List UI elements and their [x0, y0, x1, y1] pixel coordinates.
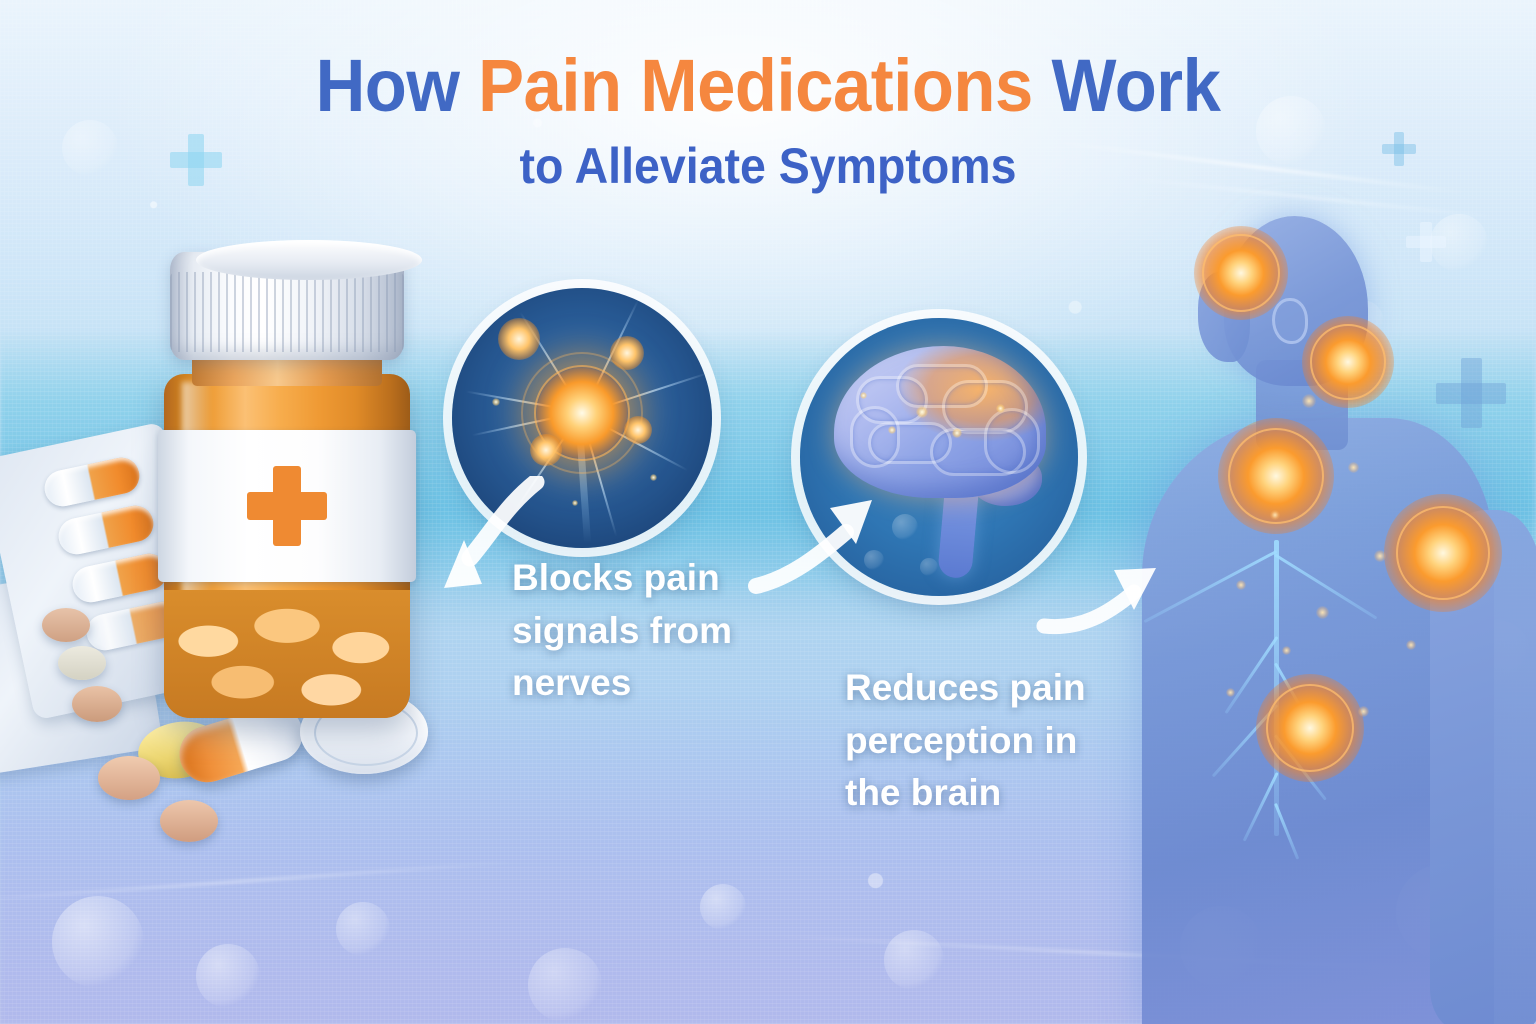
pain-ring-shoulder [1396, 506, 1490, 600]
pain-ring-lower-back [1266, 684, 1354, 772]
brain-gyrus [984, 408, 1040, 474]
title-block: How Pain Medications Work to Alleviate S… [0, 48, 1536, 195]
body-glow-dot [1302, 394, 1316, 408]
body-glow-dot [1226, 688, 1235, 697]
pill-bottle [148, 252, 426, 718]
page-title: How Pain Medications Work [54, 48, 1482, 123]
nerve-spark [492, 398, 500, 406]
brain-spark [888, 426, 896, 434]
body-glow-dot [1358, 706, 1369, 717]
nerve-spark [572, 500, 578, 506]
caption-blocks-pain: Blocks pain signals from nerves [512, 552, 774, 710]
human-ear [1272, 298, 1308, 344]
brain-spark [860, 392, 867, 399]
loose-tablet [42, 608, 90, 642]
loose-tablet [72, 686, 122, 722]
brain-gyrus [850, 406, 900, 468]
loose-tablet [58, 646, 106, 680]
body-glow-dot [1374, 550, 1386, 562]
loose-tablet [160, 800, 218, 842]
pain-ring-neck [1310, 324, 1386, 400]
caption-reduces-pain: Reduces pain perception in the brain [845, 662, 1125, 820]
nerve-node [530, 434, 562, 466]
body-glow-dot [1282, 646, 1291, 655]
bokeh-circle [920, 558, 938, 576]
page-subtitle: to Alleviate Symptoms [54, 137, 1482, 195]
nerve-spark [650, 474, 657, 481]
brain-spark [952, 428, 962, 438]
brain-spark [996, 404, 1005, 413]
loose-tablet [98, 756, 160, 800]
infographic-canvas: How Pain Medications Work to Alleviate S… [0, 0, 1536, 1024]
brain-spark [916, 406, 928, 418]
bottle-cap-ridges [170, 272, 404, 352]
body-glow-dot [1316, 606, 1329, 619]
nerve-node [624, 416, 652, 444]
body-glow-dot [1236, 580, 1246, 590]
nerve-node [498, 318, 540, 360]
body-glow-dot [1406, 640, 1416, 650]
bottle-cap-top [196, 240, 422, 280]
medical-cross-icon [247, 466, 327, 546]
pills-inside-bottle [164, 590, 410, 718]
bottle-cap [170, 252, 404, 360]
title-part-pain-medications: Pain Medications [478, 44, 1033, 127]
body-glow-dot [1348, 462, 1359, 473]
arrow-brain-to-body [1036, 548, 1196, 658]
bottle-label [158, 430, 416, 582]
title-part-work: Work [1033, 44, 1221, 127]
pain-ring-head [1202, 234, 1280, 312]
title-part-how: How [316, 44, 479, 127]
nerve-node [610, 336, 644, 370]
body-glow-dot [1270, 510, 1280, 520]
